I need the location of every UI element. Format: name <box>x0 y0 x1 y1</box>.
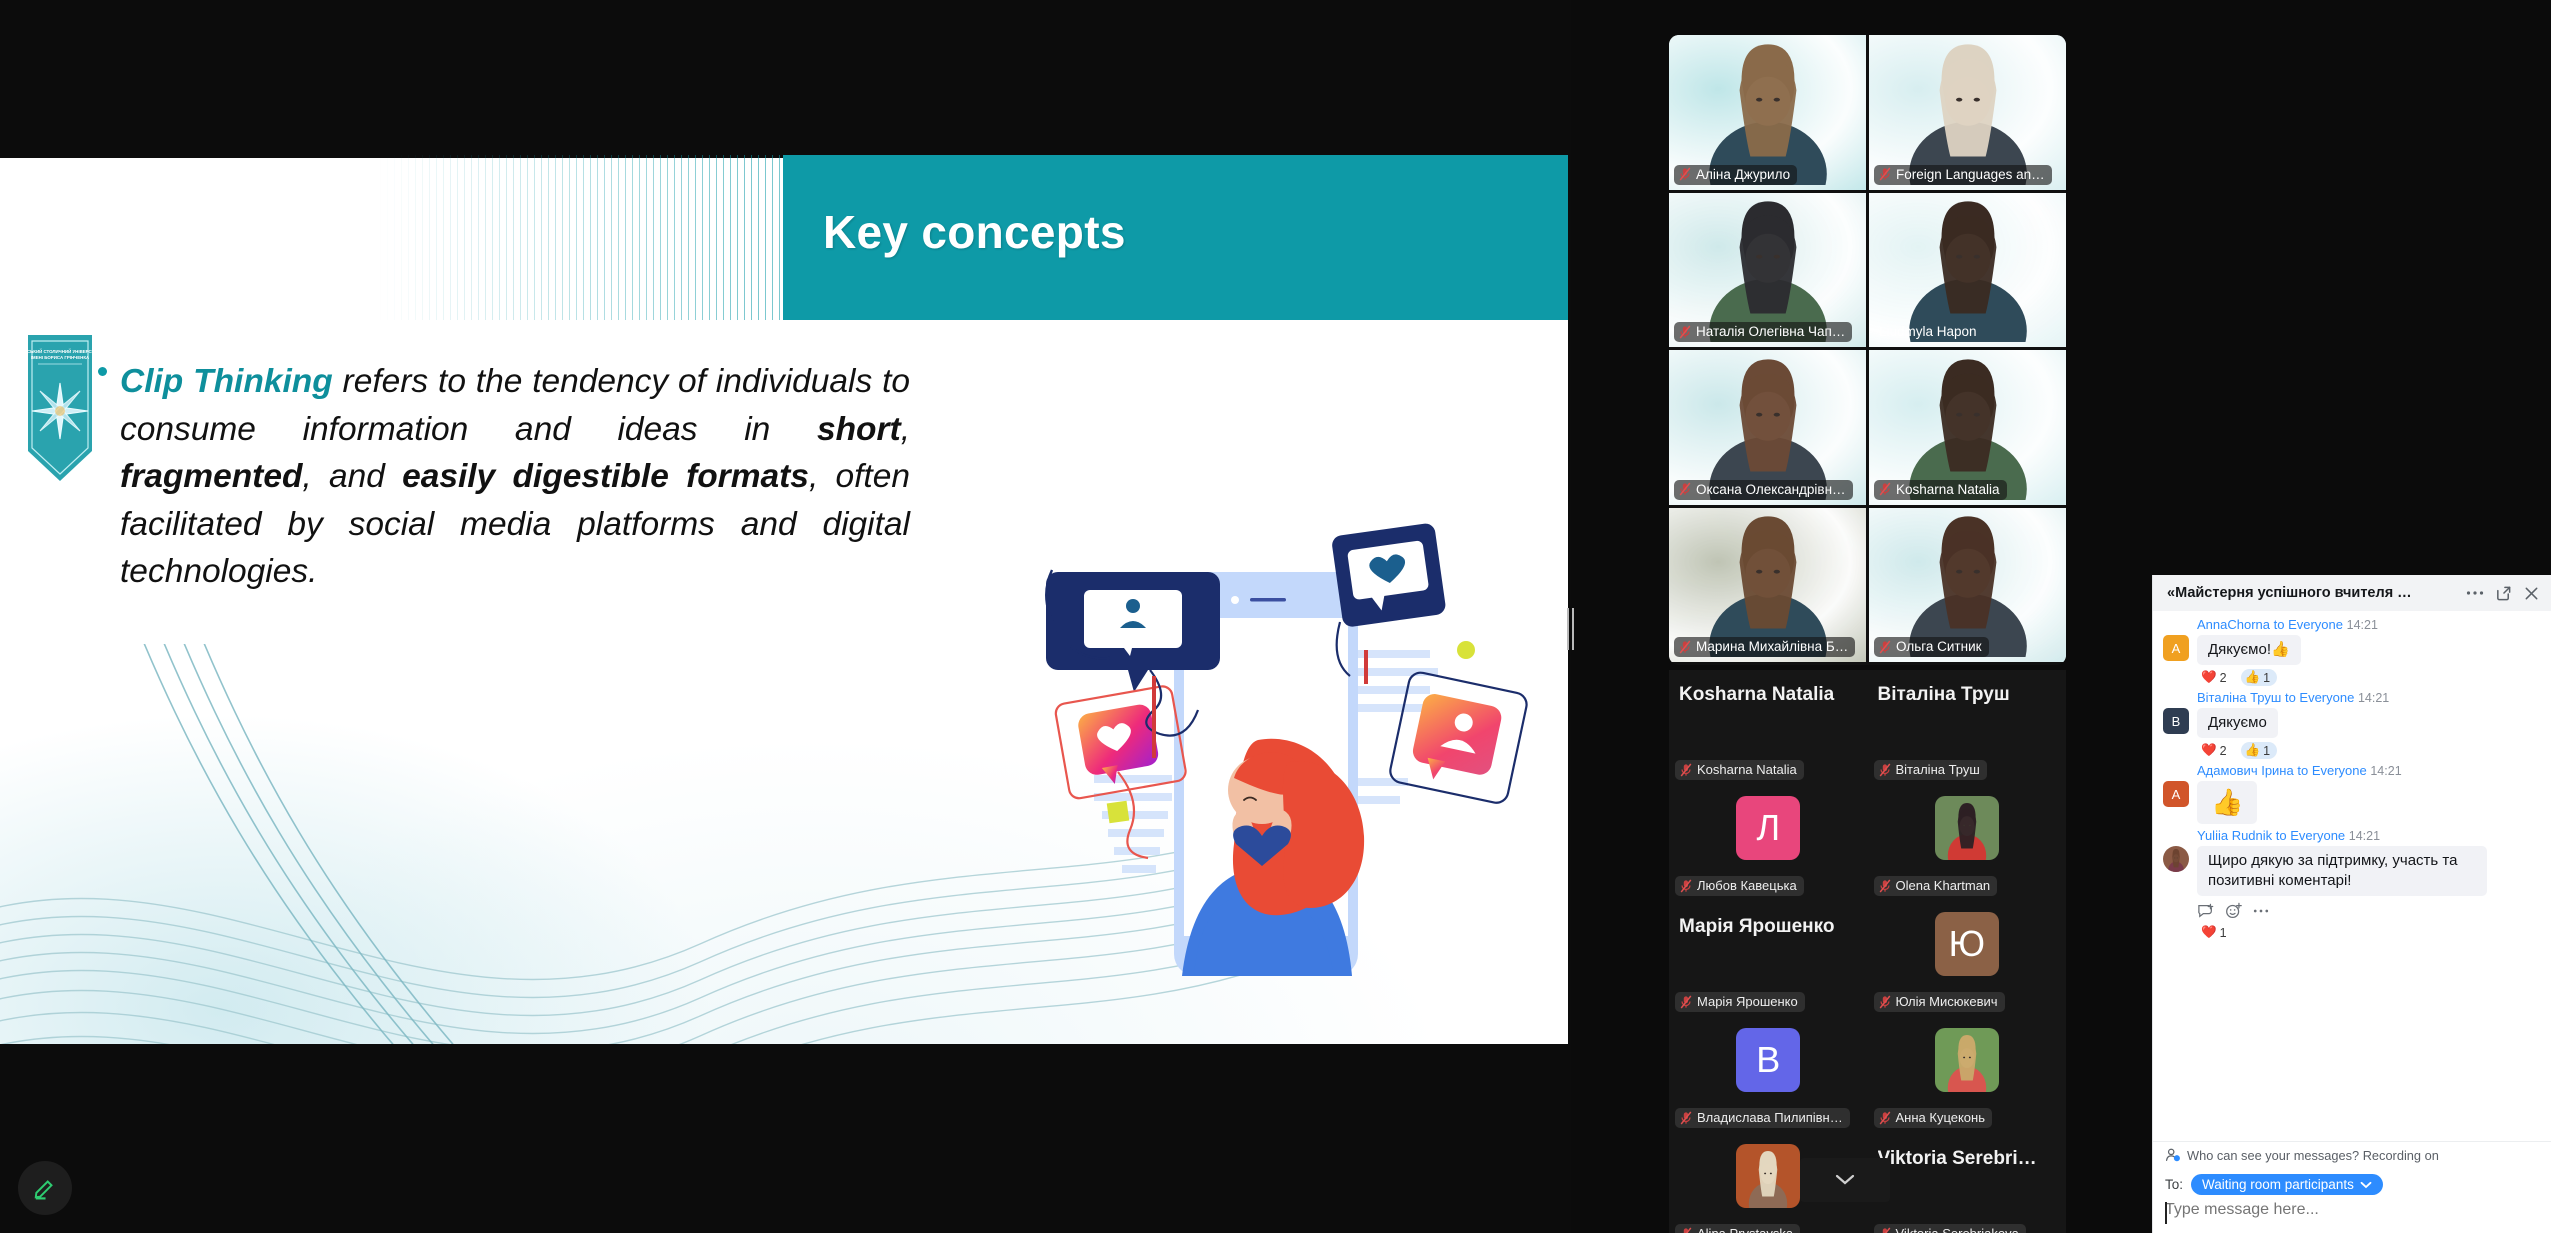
participant-display-name: Марія Ярошенко <box>1679 916 1860 938</box>
participant-avatar-photo <box>1736 1144 1800 1208</box>
annotate-button[interactable] <box>18 1161 72 1215</box>
message-bubble: Дякуємо <box>2197 708 2278 738</box>
mic-off-icon <box>1680 1227 1692 1233</box>
reaction-chip[interactable]: ❤️ 1 <box>2197 924 2234 941</box>
reaction-count: 1 <box>2263 744 2270 758</box>
message-time: 14:21 <box>2370 764 2401 778</box>
chat-recipient-dropdown[interactable]: Waiting room participants <box>2191 1174 2383 1195</box>
message-meta: AnnaChorna to Everyone 14:21 <box>2197 617 2539 632</box>
mic-off-icon <box>1879 482 1891 496</box>
video-tile[interactable]: Ольга Ситник <box>1869 508 2066 663</box>
reaction-emoji: ❤️ <box>2201 925 2217 940</box>
participant-name-badge: Foreign Languages an… <box>1874 165 2052 185</box>
participant-name: Оксана Олександрівн… <box>1696 482 1846 497</box>
participant-cell[interactable]: В Владислава Пилипівн… <box>1669 1018 1868 1134</box>
chat-message: AnnaChorna to Everyone 14:21 A Дякуємо!👍… <box>2163 617 2539 686</box>
chevron-down-icon <box>2360 1181 2372 1189</box>
participant-video-figure <box>1670 508 1866 658</box>
mic-off-icon <box>1879 995 1891 1009</box>
participant-video-figure <box>2163 846 2189 872</box>
message-reactions: ❤️ 2 👍 1 <box>2197 742 2539 759</box>
pop-out-icon[interactable] <box>2493 583 2513 603</box>
message-meta: Віталіна Труш to Everyone 14:21 <box>2197 690 2539 705</box>
participant-name-badge: Ольга Ситник <box>1874 637 1989 657</box>
message-reactions: ❤️ 1 <box>2197 924 2539 941</box>
participant-name: Kosharna Natalia <box>1896 482 2000 497</box>
bullet-marker <box>98 367 107 376</box>
chat-input-row[interactable] <box>2153 1199 2551 1233</box>
message-reactions: ❤️ 2 👍 1 <box>2197 669 2539 686</box>
avatar-initial: Л <box>1756 807 1780 849</box>
mic-off-icon <box>1879 1227 1891 1233</box>
participant-video-figure <box>1870 350 2066 500</box>
participant-video-figure <box>1870 35 2066 185</box>
participant-cell[interactable]: Л Любов Кавецька <box>1669 786 1868 902</box>
participant-name-badge: Аліна Джурило <box>1674 165 1797 185</box>
participant-name-badge: Анна Куцеконь <box>1874 1108 1993 1128</box>
participant-cell[interactable]: Kosharna Natalia Kosharna Natalia <box>1669 670 1868 786</box>
avatar-initial: A <box>2172 787 2181 802</box>
slide-sep-2: , and <box>302 458 402 495</box>
pencil-icon <box>32 1175 58 1201</box>
chat-panel: «Майстерня успішного вчителя … <box>2152 575 2551 1233</box>
page-title: Key concepts <box>823 205 1523 259</box>
participant-name-badge: Olena Khartman <box>1874 876 1998 896</box>
svg-text:ІМЕНІ БОРИСА ГРІНЧЕНКА: ІМЕНІ БОРИСА ГРІНЧЕНКА <box>31 355 90 360</box>
participant-name-badge: Kosharna Natalia <box>1675 760 1804 780</box>
participant-name: Марина Михайлівна Б… <box>1696 639 1848 654</box>
chat-scrollbar[interactable] <box>2542 649 2550 1141</box>
participant-video-figure <box>1736 1144 1800 1208</box>
avatar: В <box>2163 708 2189 734</box>
participants-grid: Kosharna Natalia Kosharna Natalia Віталі… <box>1669 670 2066 1233</box>
video-tile[interactable]: Аліна Джурило <box>1669 35 1866 190</box>
participant-name-badge: Марина Михайлівна Б… <box>1674 637 1855 657</box>
message-sender: Адамович Ірина <box>2197 763 2294 778</box>
reaction-count: 2 <box>2220 671 2227 685</box>
participant-avatar-photo <box>1935 1028 1999 1092</box>
message-emoji: 👍 <box>2271 641 2290 658</box>
mic-off-icon <box>1679 167 1691 181</box>
privacy-person-icon <box>2165 1147 2181 1163</box>
participant-avatar-initial: В <box>1736 1028 1800 1092</box>
chat-message: Віталіна Труш to Everyone 14:21 В Дякуєм… <box>2163 690 2539 759</box>
participant-display-name: Viktoria Serebri… <box>1878 1148 2059 1170</box>
message-meta: Адамович Ірина to Everyone 14:21 <box>2197 763 2539 778</box>
video-tile[interactable]: Liudmyla Hapon <box>1869 193 2066 348</box>
message-text: 👍 <box>2211 787 2243 817</box>
avatar-initial: В <box>1756 1039 1780 1081</box>
avatar: A <box>2163 635 2189 661</box>
mic-off-icon <box>1879 640 1891 654</box>
reply-icon[interactable] <box>2197 903 2215 919</box>
message-meta: Yuliia Rudnik to Everyone 14:21 <box>2197 828 2539 843</box>
participant-name: Olena Khartman <box>1896 878 1991 893</box>
participant-name-badge: Марія Ярошенко <box>1675 992 1805 1012</box>
participant-name-badge: Оксана Олександрівн… <box>1674 480 1853 500</box>
reaction-chip[interactable]: 👍 1 <box>2241 742 2278 759</box>
participant-name: Foreign Languages an… <box>1896 167 2045 182</box>
reaction-chip[interactable]: ❤️ 2 <box>2197 669 2234 686</box>
slide-key-term: Clip Thinking <box>120 363 333 400</box>
video-gallery: Аліна Джурило Foreign Languages an… <box>1669 35 2066 665</box>
participant-cell[interactable]: Ю Юлія Мисюкевич <box>1868 902 2067 1018</box>
message-bubble: Щиро дякую за підтримку, участь та позит… <box>2197 846 2487 896</box>
close-icon[interactable] <box>2521 583 2541 603</box>
zoom-meeting-window: КИЇВСЬКИЙ СТОЛИЧНИЙ УНІВЕРСИТЕТ ІМЕНІ БО… <box>0 0 2551 1233</box>
participant-name-badge: Alina Prystavska <box>1675 1224 1800 1233</box>
participant-cell[interactable]: Olena Khartman <box>1868 786 2067 902</box>
message-time: 14:21 <box>2347 618 2378 632</box>
message-bubble: Дякуємо!👍 <box>2197 635 2301 665</box>
message-more-icon[interactable] <box>2253 908 2269 914</box>
participant-name-badge: Владислава Пилипівн… <box>1675 1108 1850 1128</box>
text-caret <box>2165 1202 2167 1224</box>
participant-display-name: Віталіна Труш <box>1878 684 2059 706</box>
shared-screen-area: КИЇВСЬКИЙ СТОЛИЧНИЙ УНІВЕРСИТЕТ ІМЕНІ БО… <box>0 0 1571 1233</box>
mic-off-icon <box>1680 1111 1692 1125</box>
chat-title: «Майстерня успішного вчителя … <box>2167 585 2457 601</box>
participant-name-badge: Любов Кавецька <box>1675 876 1804 896</box>
message-sender: Yuliia Rudnik <box>2197 828 2272 843</box>
message-recipient: to Everyone <box>2297 763 2370 778</box>
video-tile[interactable]: Наталія Олегівна Чап… <box>1669 193 1866 348</box>
participant-avatar-initial: Ю <box>1935 912 1999 976</box>
avatar <box>2163 846 2189 872</box>
mic-off-icon <box>1680 879 1692 893</box>
participant-name: Марія Ярошенко <box>1697 994 1798 1009</box>
chat-header: «Майстерня успішного вчителя … <box>2153 575 2551 611</box>
reaction-chip[interactable]: 👍 1 <box>2241 669 2278 686</box>
mic-off-icon <box>1879 879 1891 893</box>
message-text: Дякуємо! <box>2208 641 2271 658</box>
mic-off-icon <box>1680 763 1692 777</box>
message-text: Дякуємо <box>2208 714 2267 731</box>
reaction-emoji: 👍 <box>2245 743 2261 758</box>
chat-recipient-value: Waiting room participants <box>2202 1177 2354 1192</box>
mic-off-icon <box>1679 325 1691 339</box>
slide-sep-1: , <box>901 411 910 448</box>
participant-name-badge: Віталіна Труш <box>1874 760 1987 780</box>
svg-text:КИЇВСЬКИЙ СТОЛИЧНИЙ УНІВЕРСИТЕ: КИЇВСЬКИЙ СТОЛИЧНИЙ УНІВЕРСИТЕТ <box>26 349 94 354</box>
participant-name-badge: Наталія Олегівна Чап… <box>1674 322 1852 342</box>
participant-name: Віталіна Труш <box>1896 762 1980 777</box>
avatar-initial: Ю <box>1949 923 1985 965</box>
add-reaction-icon[interactable] <box>2225 902 2243 920</box>
participant-name: Viktoria Serebriakova <box>1896 1226 2019 1233</box>
participant-video-figure <box>1670 350 1866 500</box>
participant-name-badge: Kosharna Natalia <box>1874 480 2007 500</box>
participant-name: Alina Prystavska <box>1697 1226 1793 1233</box>
participant-name: Юлія Мисюкевич <box>1896 994 1998 1009</box>
participant-name: Kosharna Natalia <box>1697 762 1797 777</box>
participant-display-name: Kosharna Natalia <box>1679 684 1860 706</box>
reaction-chip[interactable]: ❤️ 2 <box>2197 742 2234 759</box>
slide-body-text: Clip Thinking refers to the tendency of … <box>120 358 910 596</box>
university-logo: КИЇВСЬКИЙ СТОЛИЧНИЙ УНІВЕРСИТЕТ ІМЕНІ БО… <box>26 333 94 483</box>
reaction-count: 2 <box>2220 744 2227 758</box>
mic-off-icon <box>1680 995 1692 1009</box>
participant-name: Аліна Джурило <box>1696 167 1790 182</box>
message-bubble: 👍 <box>2197 781 2257 824</box>
participant-name: Владислава Пилипівн… <box>1697 1110 1843 1125</box>
avatar-initial: A <box>2172 641 2181 656</box>
slide-bold-digestible: easily digestible formats <box>402 458 809 495</box>
video-tile[interactable]: Марина Михайлівна Б… <box>1669 508 1866 663</box>
avatar: A <box>2163 781 2189 807</box>
chat-recipient-row: To: Waiting room participants <box>2153 1168 2551 1199</box>
participant-video-figure <box>1670 193 1866 343</box>
participant-avatar-initial: Л <box>1736 796 1800 860</box>
participant-video-figure <box>1935 796 1999 860</box>
chat-message-list[interactable]: AnnaChorna to Everyone 14:21 A Дякуємо!👍… <box>2153 611 2551 1141</box>
reaction-emoji: ❤️ <box>2201 670 2217 685</box>
mic-off-icon <box>1679 640 1691 654</box>
participant-cell[interactable]: Viktoria Serebri… Viktoria Serebriakova <box>1868 1134 2067 1233</box>
message-sender: AnnaChorna <box>2197 617 2270 632</box>
chat-message: Yuliia Rudnik to Everyone 14:21 Щиро дяк… <box>2163 828 2539 941</box>
slide-bold-fragmented: fragmented <box>120 458 302 495</box>
slide-illustration <box>1022 510 1542 990</box>
participant-name: Ольга Ситник <box>1896 639 1982 654</box>
video-tile[interactable]: Оксана Олександрівн… <box>1669 350 1866 505</box>
chat-message-input[interactable] <box>2165 1201 2539 1219</box>
message-recipient: to Everyone <box>2274 617 2347 632</box>
slide-header-pinstripes <box>380 155 783 320</box>
reaction-count: 1 <box>2263 671 2270 685</box>
chat-privacy-text: Who can see your messages? Recording on <box>2187 1148 2439 1163</box>
participant-name: Анна Куцеконь <box>1896 1110 1986 1125</box>
chat-to-label: To: <box>2165 1177 2183 1192</box>
mic-off-icon <box>1879 763 1891 777</box>
mic-off-icon <box>1879 167 1891 181</box>
participants-panel: Kosharna Natalia Kosharna Natalia Віталі… <box>1669 670 2066 1233</box>
mic-off-icon <box>1879 1111 1891 1125</box>
participant-video-figure <box>1935 1028 1999 1092</box>
chat-message: Адамович Ірина to Everyone 14:21 A 👍 <box>2163 763 2539 824</box>
reaction-emoji: ❤️ <box>2201 743 2217 758</box>
participant-name-badge: Liudmyla Hapon <box>1874 322 1984 342</box>
participant-cell[interactable]: Віталіна Труш Віталіна Труш <box>1868 670 2067 786</box>
participant-video-figure <box>1870 193 2066 343</box>
participants-scroll-down-button[interactable] <box>1800 1158 1890 1202</box>
participant-video-figure <box>1870 508 2066 658</box>
more-options-icon[interactable] <box>2465 583 2485 603</box>
message-action-bar <box>2197 902 2539 920</box>
participant-avatar-photo <box>1935 796 1999 860</box>
chat-privacy-note: Who can see your messages? Recording on <box>2153 1141 2551 1168</box>
participant-name-badge: Юлія Мисюкевич <box>1874 992 2005 1012</box>
message-time: 14:21 <box>2358 691 2389 705</box>
message-recipient: to Everyone <box>2276 828 2349 843</box>
mic-off-icon <box>1679 482 1691 496</box>
message-sender: Віталіна Труш <box>2197 690 2281 705</box>
video-tile[interactable]: Kosharna Natalia <box>1869 350 2066 505</box>
reaction-emoji: 👍 <box>2245 670 2261 685</box>
participant-name: Любов Кавецька <box>1697 878 1797 893</box>
participant-cell[interactable]: Марія Ярошенко Марія Ярошенко <box>1669 902 1868 1018</box>
reaction-count: 1 <box>2220 926 2227 940</box>
avatar-initial: В <box>2172 714 2181 729</box>
participant-name-badge: Viktoria Serebriakova <box>1874 1224 2026 1233</box>
message-text: Щиро дякую за підтримку, участь та позит… <box>2208 852 2457 889</box>
chevron-down-icon <box>1834 1173 1856 1187</box>
message-recipient: to Everyone <box>2285 690 2358 705</box>
participant-cell[interactable]: Анна Куцеконь <box>1868 1018 2067 1134</box>
participant-video-figure <box>1670 35 1866 185</box>
video-tile[interactable]: Foreign Languages an… <box>1869 35 2066 190</box>
slide-bold-short: short <box>817 411 901 448</box>
panel-resize-handle[interactable] <box>1566 608 1575 650</box>
message-time: 14:21 <box>2349 829 2380 843</box>
participant-name: Наталія Олегівна Чап… <box>1696 324 1845 339</box>
participant-name: Liudmyla Hapon <box>1879 324 1977 339</box>
